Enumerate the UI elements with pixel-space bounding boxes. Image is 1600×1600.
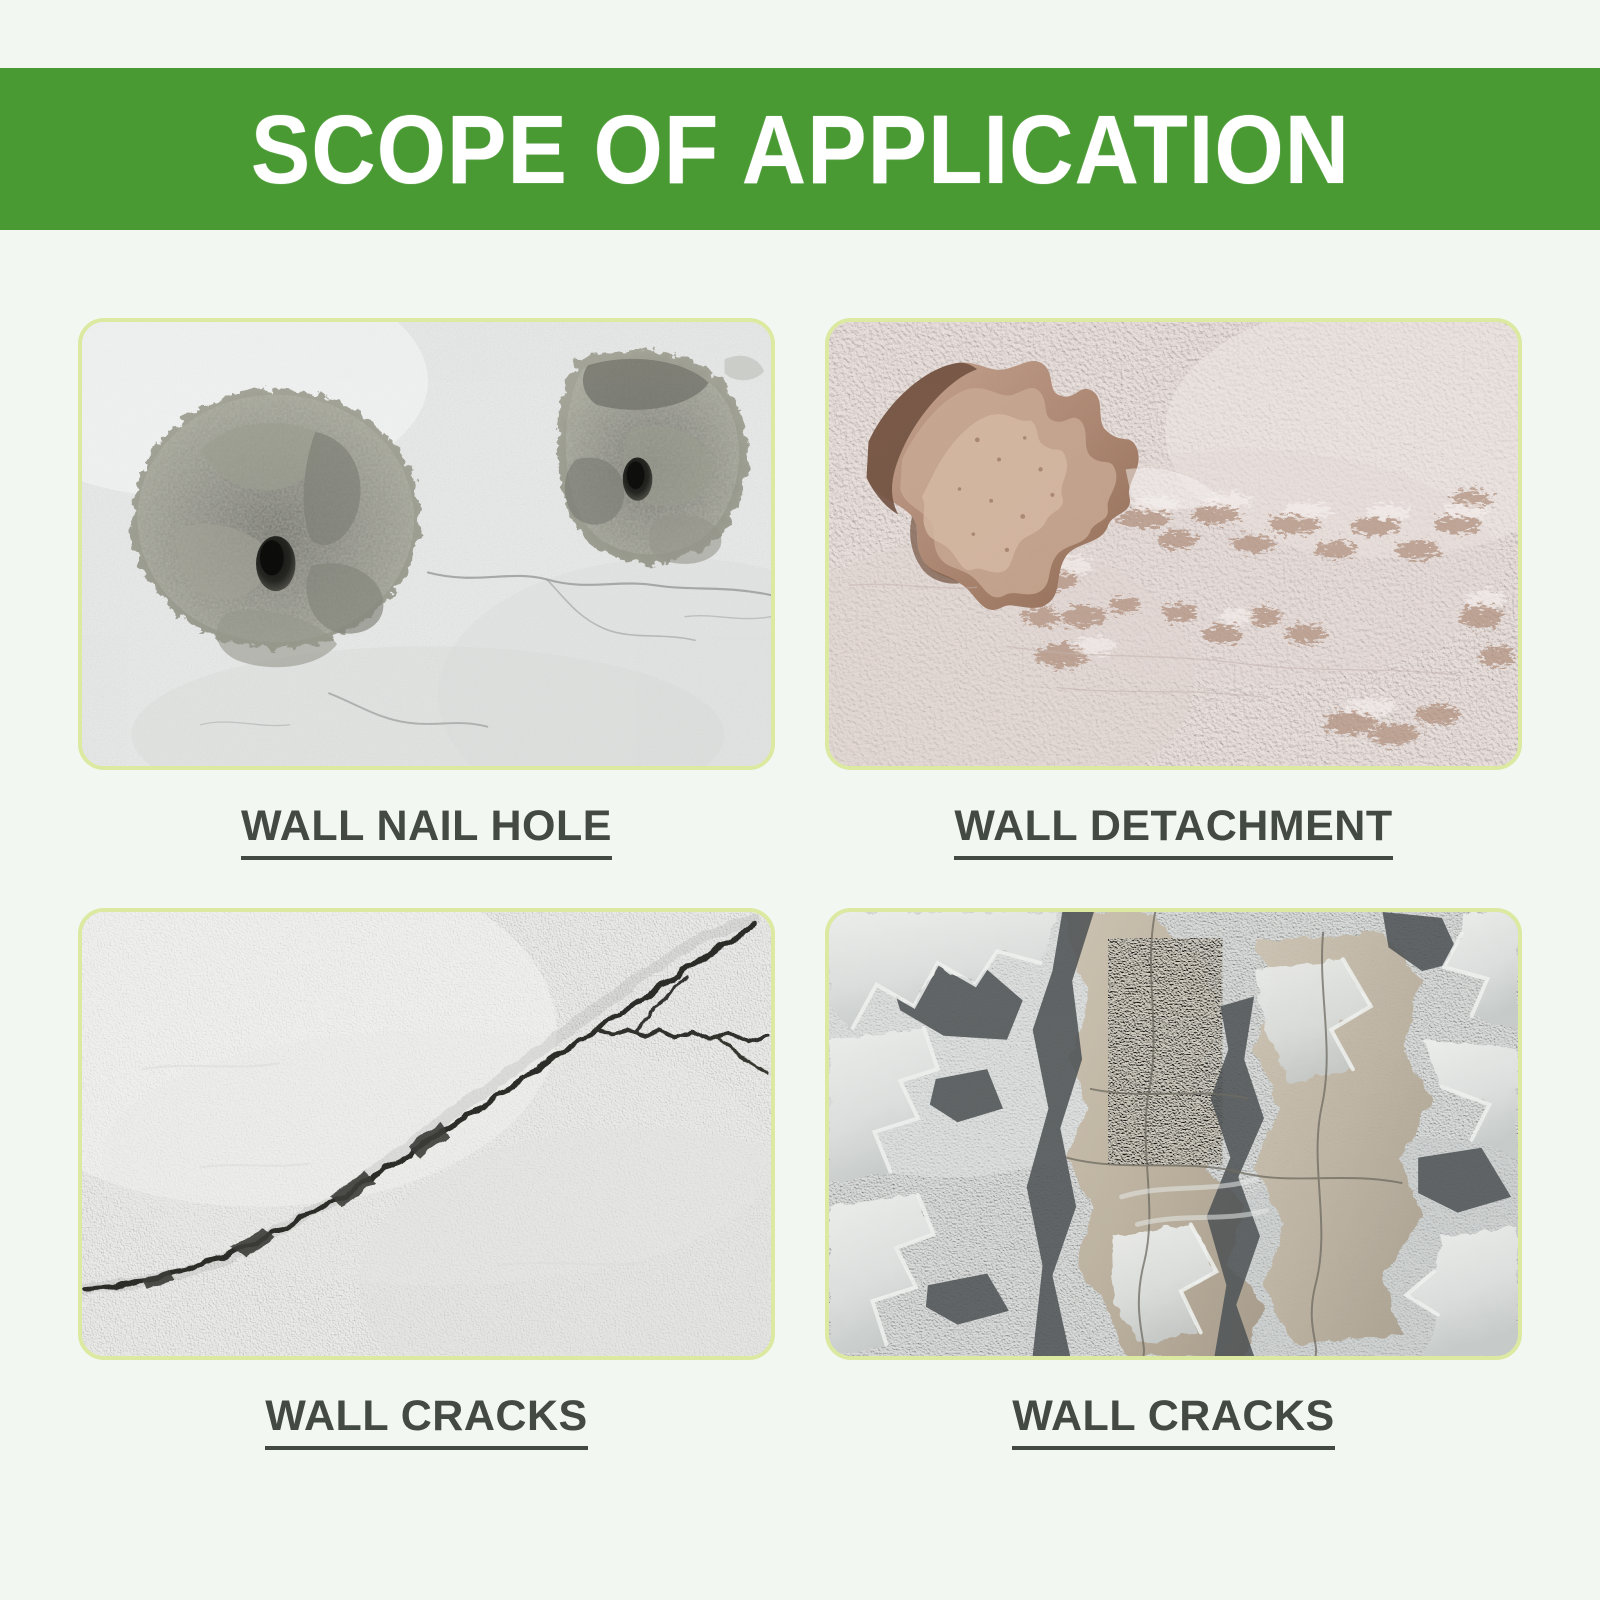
card-caption: WALL CRACKS — [1012, 1394, 1334, 1450]
wall-cracks-line-illustration — [82, 912, 771, 1356]
photo-wall-nail-hole — [78, 318, 775, 770]
card-wall-nail-hole[interactable]: WALL NAIL HOLE — [78, 318, 775, 860]
wall-cracks-peeling-illustration — [829, 912, 1518, 1356]
card-wall-cracks-peeling[interactable]: WALL CRACKS — [825, 908, 1522, 1450]
caption-wrap-wall-cracks-line: WALL CRACKS — [78, 1394, 775, 1450]
wall-nail-hole-illustration — [82, 322, 771, 766]
photo-wall-cracks-peeling — [825, 908, 1522, 1360]
card-wall-cracks-line[interactable]: WALL CRACKS — [78, 908, 775, 1450]
caption-wrap-wall-detachment: WALL DETACHMENT — [825, 804, 1522, 860]
caption-wrap-wall-nail-hole: WALL NAIL HOLE — [78, 804, 775, 860]
header-banner: SCOPE OF APPLICATION — [0, 68, 1600, 230]
scope-of-application-page: SCOPE OF APPLICATION — [0, 0, 1600, 1600]
card-wall-detachment[interactable]: WALL DETACHMENT — [825, 318, 1522, 860]
caption-wrap-wall-cracks-peeling: WALL CRACKS — [825, 1394, 1522, 1450]
card-caption: WALL CRACKS — [265, 1394, 587, 1450]
photo-wall-cracks-line — [78, 908, 775, 1360]
card-caption: WALL NAIL HOLE — [241, 804, 612, 860]
card-caption: WALL DETACHMENT — [954, 804, 1392, 860]
page-title: SCOPE OF APPLICATION — [250, 101, 1349, 198]
photo-wall-detachment — [825, 318, 1522, 770]
wall-detachment-illustration — [829, 322, 1518, 766]
